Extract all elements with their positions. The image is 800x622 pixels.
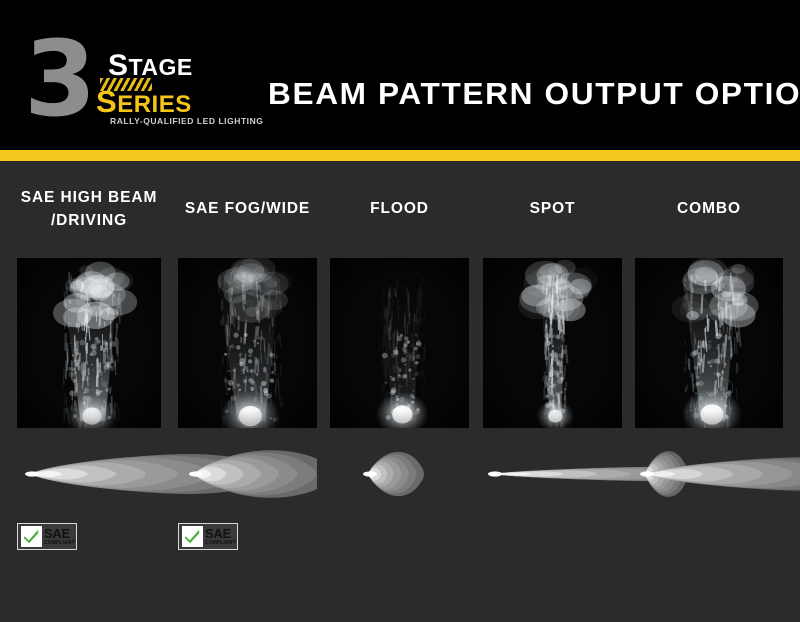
column-label-driving: SAE HIGH BEAM /DRIVING [17,186,161,232]
sae-badge-text: SAECOMPLIANT [205,527,236,546]
sae-compliant-badge-wrapper-driving: SAECOMPLIANT [17,523,161,550]
beam-column-driving: SAE HIGH BEAM /DRIVING SAECOMPLIANT [17,161,161,581]
beam-pattern-diagram-combo [635,443,783,505]
sae-badge-subtitle: COMPLIANT [44,541,75,546]
column-label-flood: FLOOD [330,197,469,220]
column-label-spot: SPOT [483,197,622,220]
beam-pattern-diagram-flood [358,443,469,505]
beam-photo-combo [635,258,783,428]
beam-column-wide: SAE FOG/WIDE SAECOMPLIANT [178,161,317,581]
logo-word-stage: STAGE [108,51,193,81]
logo-stage-capital: S [108,49,129,82]
beam-column-spot: SPOT [483,161,622,581]
logo-stage-rest: TAGE [129,54,193,80]
checkmark-icon [182,526,203,547]
sae-badge-title: SAE [44,527,75,540]
page-title: BEAM PATTERN OUTPUT OPTIONS [268,76,800,112]
sae-compliant-badge-wrapper-wide: SAECOMPLIANT [178,523,317,550]
logo-numeral-3: 3 [24,30,90,128]
poster-header: 3 STAGE SERIES RALLY-QUALIFIED LED LIGHT… [0,0,800,150]
sae-badge-title: SAE [205,527,236,540]
logo-tagline: RALLY-QUALIFIED LED LIGHTING [110,116,263,126]
beam-photo-flood [330,258,469,428]
sae-compliant-badge: SAECOMPLIANT [17,523,77,550]
beam-photo-driving [17,258,161,428]
logo-series-rest: ERIES [117,91,192,118]
logo-word-series: SERIES [96,86,192,117]
beam-photo-wide [178,258,317,428]
sae-badge-subtitle: COMPLIANT [205,541,236,546]
sae-compliant-badge: SAECOMPLIANT [178,523,238,550]
diode-dynamics-stage-series-logo: 3 STAGE SERIES RALLY-QUALIFIED LED LIGHT… [24,28,239,128]
checkmark-icon [21,526,42,547]
header-accent-divider [0,150,800,161]
beam-pattern-poster: 3 STAGE SERIES RALLY-QUALIFIED LED LIGHT… [0,0,800,622]
sae-badge-text: SAECOMPLIANT [44,527,75,546]
beam-column-flood: FLOOD [330,161,469,581]
beam-pattern-diagram-spot [483,443,622,505]
column-label-combo: COMBO [635,197,783,220]
beam-column-combo: COMBO [635,161,783,581]
column-label-wide: SAE FOG/WIDE [178,197,317,220]
beam-pattern-diagram-wide [184,443,317,505]
beam-photo-spot [483,258,622,428]
beam-pattern-diagram-driving [20,443,161,505]
logo-series-capital: S [96,84,117,119]
